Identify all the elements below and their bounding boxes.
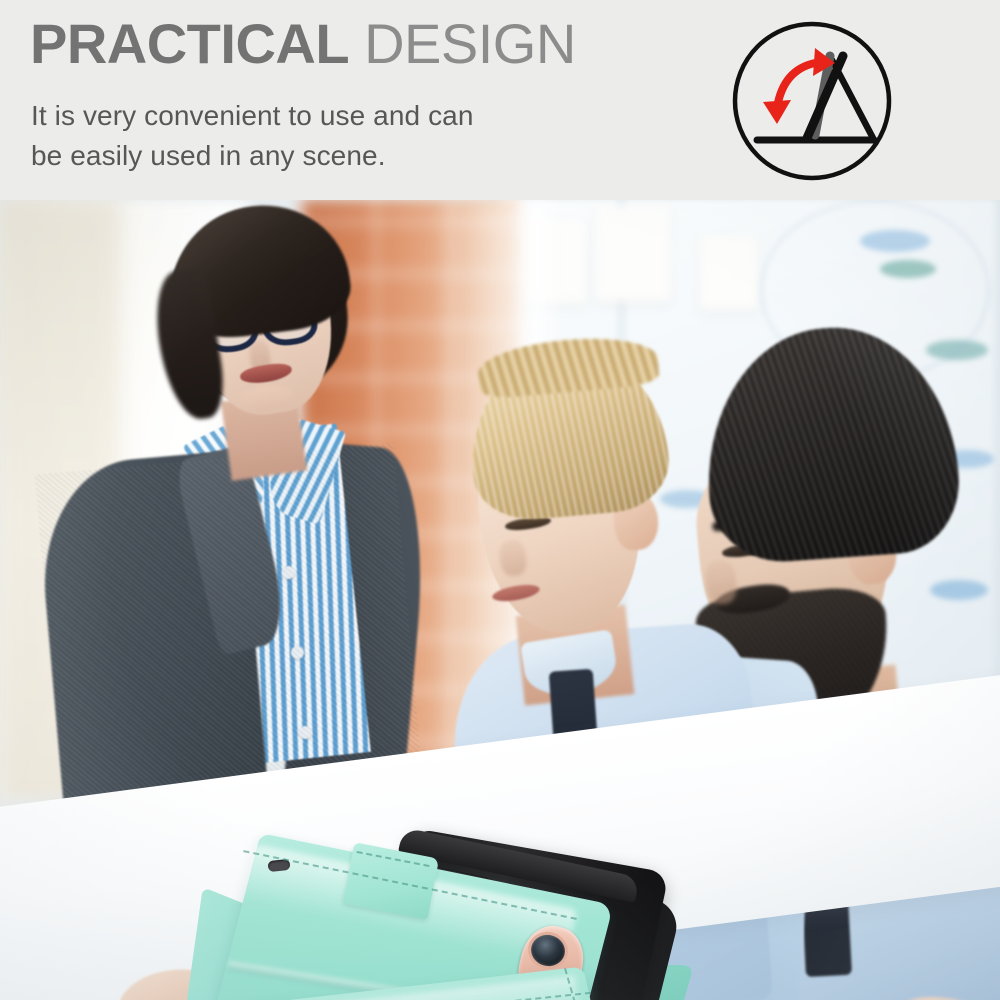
- page-subtitle: It is very convenient to use and can be …: [31, 96, 474, 176]
- subtitle-line-2: be easily used in any scene.: [31, 136, 474, 176]
- headline-strong: PRACTICAL: [30, 12, 349, 75]
- page-title: PRACTICAL DESIGN: [30, 16, 576, 72]
- product-photo: [0, 200, 1000, 1000]
- headline-light: DESIGN: [364, 12, 576, 75]
- sticky-note: [700, 236, 758, 310]
- adjustable-kickstand-icon: [731, 20, 893, 182]
- whiteboard-scribble: [930, 580, 988, 600]
- sticky-note: [596, 206, 670, 302]
- subtitle-line-1: It is very convenient to use and can: [31, 96, 474, 136]
- product-feature-banner: PRACTICAL DESIGN It is very convenient t…: [0, 0, 1000, 1000]
- header-band: PRACTICAL DESIGN It is very convenient t…: [0, 0, 1000, 200]
